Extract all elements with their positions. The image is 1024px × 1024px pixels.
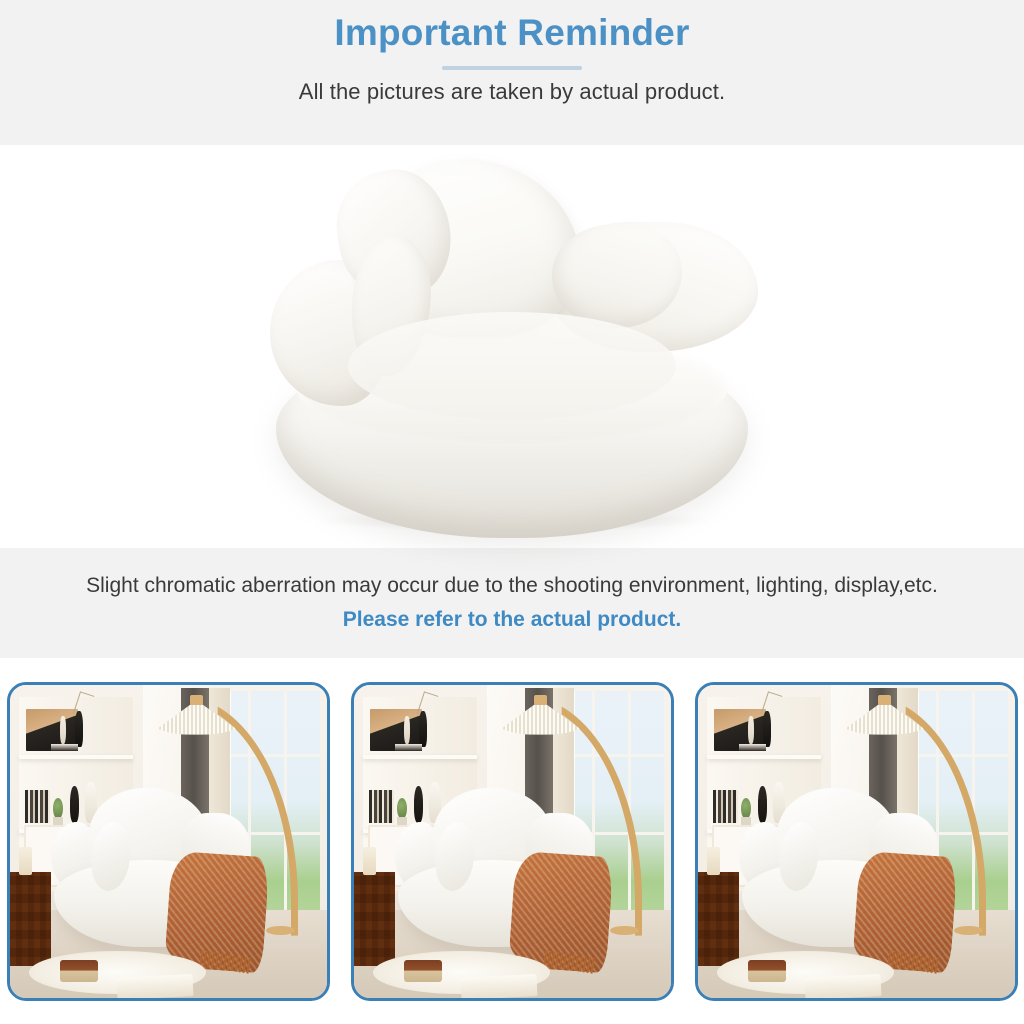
lamp-cap <box>534 695 547 704</box>
stacked-books <box>51 744 78 752</box>
gallery-thumbnail-1[interactable] <box>7 682 330 1001</box>
wooden-side-table <box>698 872 739 966</box>
figurine <box>748 716 754 743</box>
room-scene-2 <box>354 685 671 998</box>
potted-plant <box>741 798 751 819</box>
stacked-books <box>739 744 766 752</box>
open-book <box>117 974 194 998</box>
vintage-radio <box>404 960 442 982</box>
lamp-base <box>610 926 639 935</box>
book-row <box>25 790 50 823</box>
book-row <box>713 790 738 823</box>
thumbnail-gallery <box>0 658 1024 1024</box>
wooden-side-table <box>10 872 51 966</box>
dark-sculpture <box>414 786 423 823</box>
header-band: Important Reminder All the pictures are … <box>0 0 1024 145</box>
product-photo-stage <box>252 152 772 542</box>
notice-band: Slight chromatic aberration may occur du… <box>0 548 1024 658</box>
hero-product-image <box>0 145 1024 548</box>
sofa-seat-cushion <box>348 312 676 420</box>
notice-text: Slight chromatic aberration may occur du… <box>86 574 938 597</box>
page-title: Important Reminder <box>334 12 689 55</box>
dark-vase-top-shelf <box>75 711 83 748</box>
potted-plant <box>397 798 407 819</box>
gallery-thumbnail-2[interactable] <box>351 682 674 1001</box>
dark-vase-top-shelf <box>419 711 427 748</box>
room-scene-3 <box>698 685 1015 998</box>
stacked-books <box>395 744 422 752</box>
wooden-side-table <box>354 872 395 966</box>
dark-sculpture <box>70 786 79 823</box>
chromatic-aberration-notice: Slight chromatic aberration may occur du… <box>62 569 962 637</box>
candle <box>707 847 720 875</box>
product-listing-page: Important Reminder All the pictures are … <box>0 0 1024 1024</box>
white-boucle-round-swivel-chair <box>252 152 772 542</box>
lamp-cap <box>190 695 203 704</box>
vintage-radio <box>748 960 786 982</box>
open-book <box>805 974 882 998</box>
room-scene-1 <box>10 685 327 998</box>
vintage-radio <box>60 960 98 982</box>
potted-plant <box>53 798 63 819</box>
open-book <box>461 974 538 998</box>
candle <box>19 847 32 875</box>
candle <box>363 847 376 875</box>
dark-sculpture <box>758 786 767 823</box>
lamp-cap <box>878 695 891 704</box>
notice-accent-text: Please refer to the actual product. <box>343 608 681 631</box>
lamp-base <box>266 926 295 935</box>
figurine <box>60 716 66 743</box>
title-divider <box>442 66 582 70</box>
dark-vase-top-shelf <box>763 711 771 748</box>
gallery-thumbnail-3[interactable] <box>695 682 1018 1001</box>
figurine <box>404 716 410 743</box>
page-subtitle: All the pictures are taken by actual pro… <box>299 79 725 105</box>
lamp-base <box>954 926 983 935</box>
book-row <box>369 790 394 823</box>
